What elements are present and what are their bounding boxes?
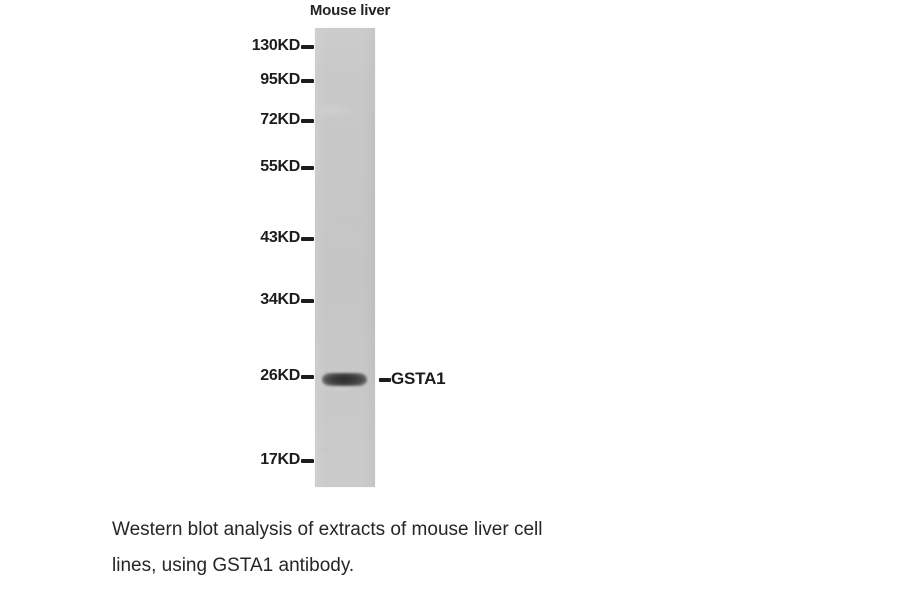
band-pointer-tick-gsta1 <box>379 378 391 382</box>
marker-label-34kd: 34KD <box>200 291 300 309</box>
marker-tick-43kd <box>301 237 314 241</box>
blot-lane <box>315 28 375 487</box>
marker-label-17kd: 17KD <box>200 451 300 469</box>
marker-label-130kd: 130KD <box>200 37 300 55</box>
marker-tick-72kd <box>301 119 314 123</box>
marker-tick-55kd <box>301 166 314 170</box>
caption-line-1: Western blot analysis of extracts of mou… <box>112 512 832 548</box>
figure-caption: Western blot analysis of extracts of mou… <box>112 512 832 584</box>
marker-tick-34kd <box>301 299 314 303</box>
marker-tick-17kd <box>301 459 314 463</box>
marker-tick-26kd <box>301 375 314 379</box>
lane-title-mouse-liver: Mouse liver <box>278 2 422 19</box>
protein-band-gsta1 <box>322 373 367 386</box>
caption-line-2: lines, using GSTA1 antibody. <box>112 548 832 584</box>
marker-label-26kd: 26KD <box>200 367 300 385</box>
marker-label-55kd: 55KD <box>200 158 300 176</box>
marker-label-95kd: 95KD <box>200 71 300 89</box>
western-blot-figure: Mouse liver 130KD95KD72KD55KD43KD34KD26K… <box>0 0 900 594</box>
band-label-gsta1: GSTA1 <box>391 369 445 389</box>
marker-tick-95kd <box>301 79 314 83</box>
marker-label-43kd: 43KD <box>200 229 300 247</box>
marker-label-72kd: 72KD <box>200 111 300 129</box>
marker-tick-130kd <box>301 45 314 49</box>
lane-grain-texture <box>315 28 375 487</box>
